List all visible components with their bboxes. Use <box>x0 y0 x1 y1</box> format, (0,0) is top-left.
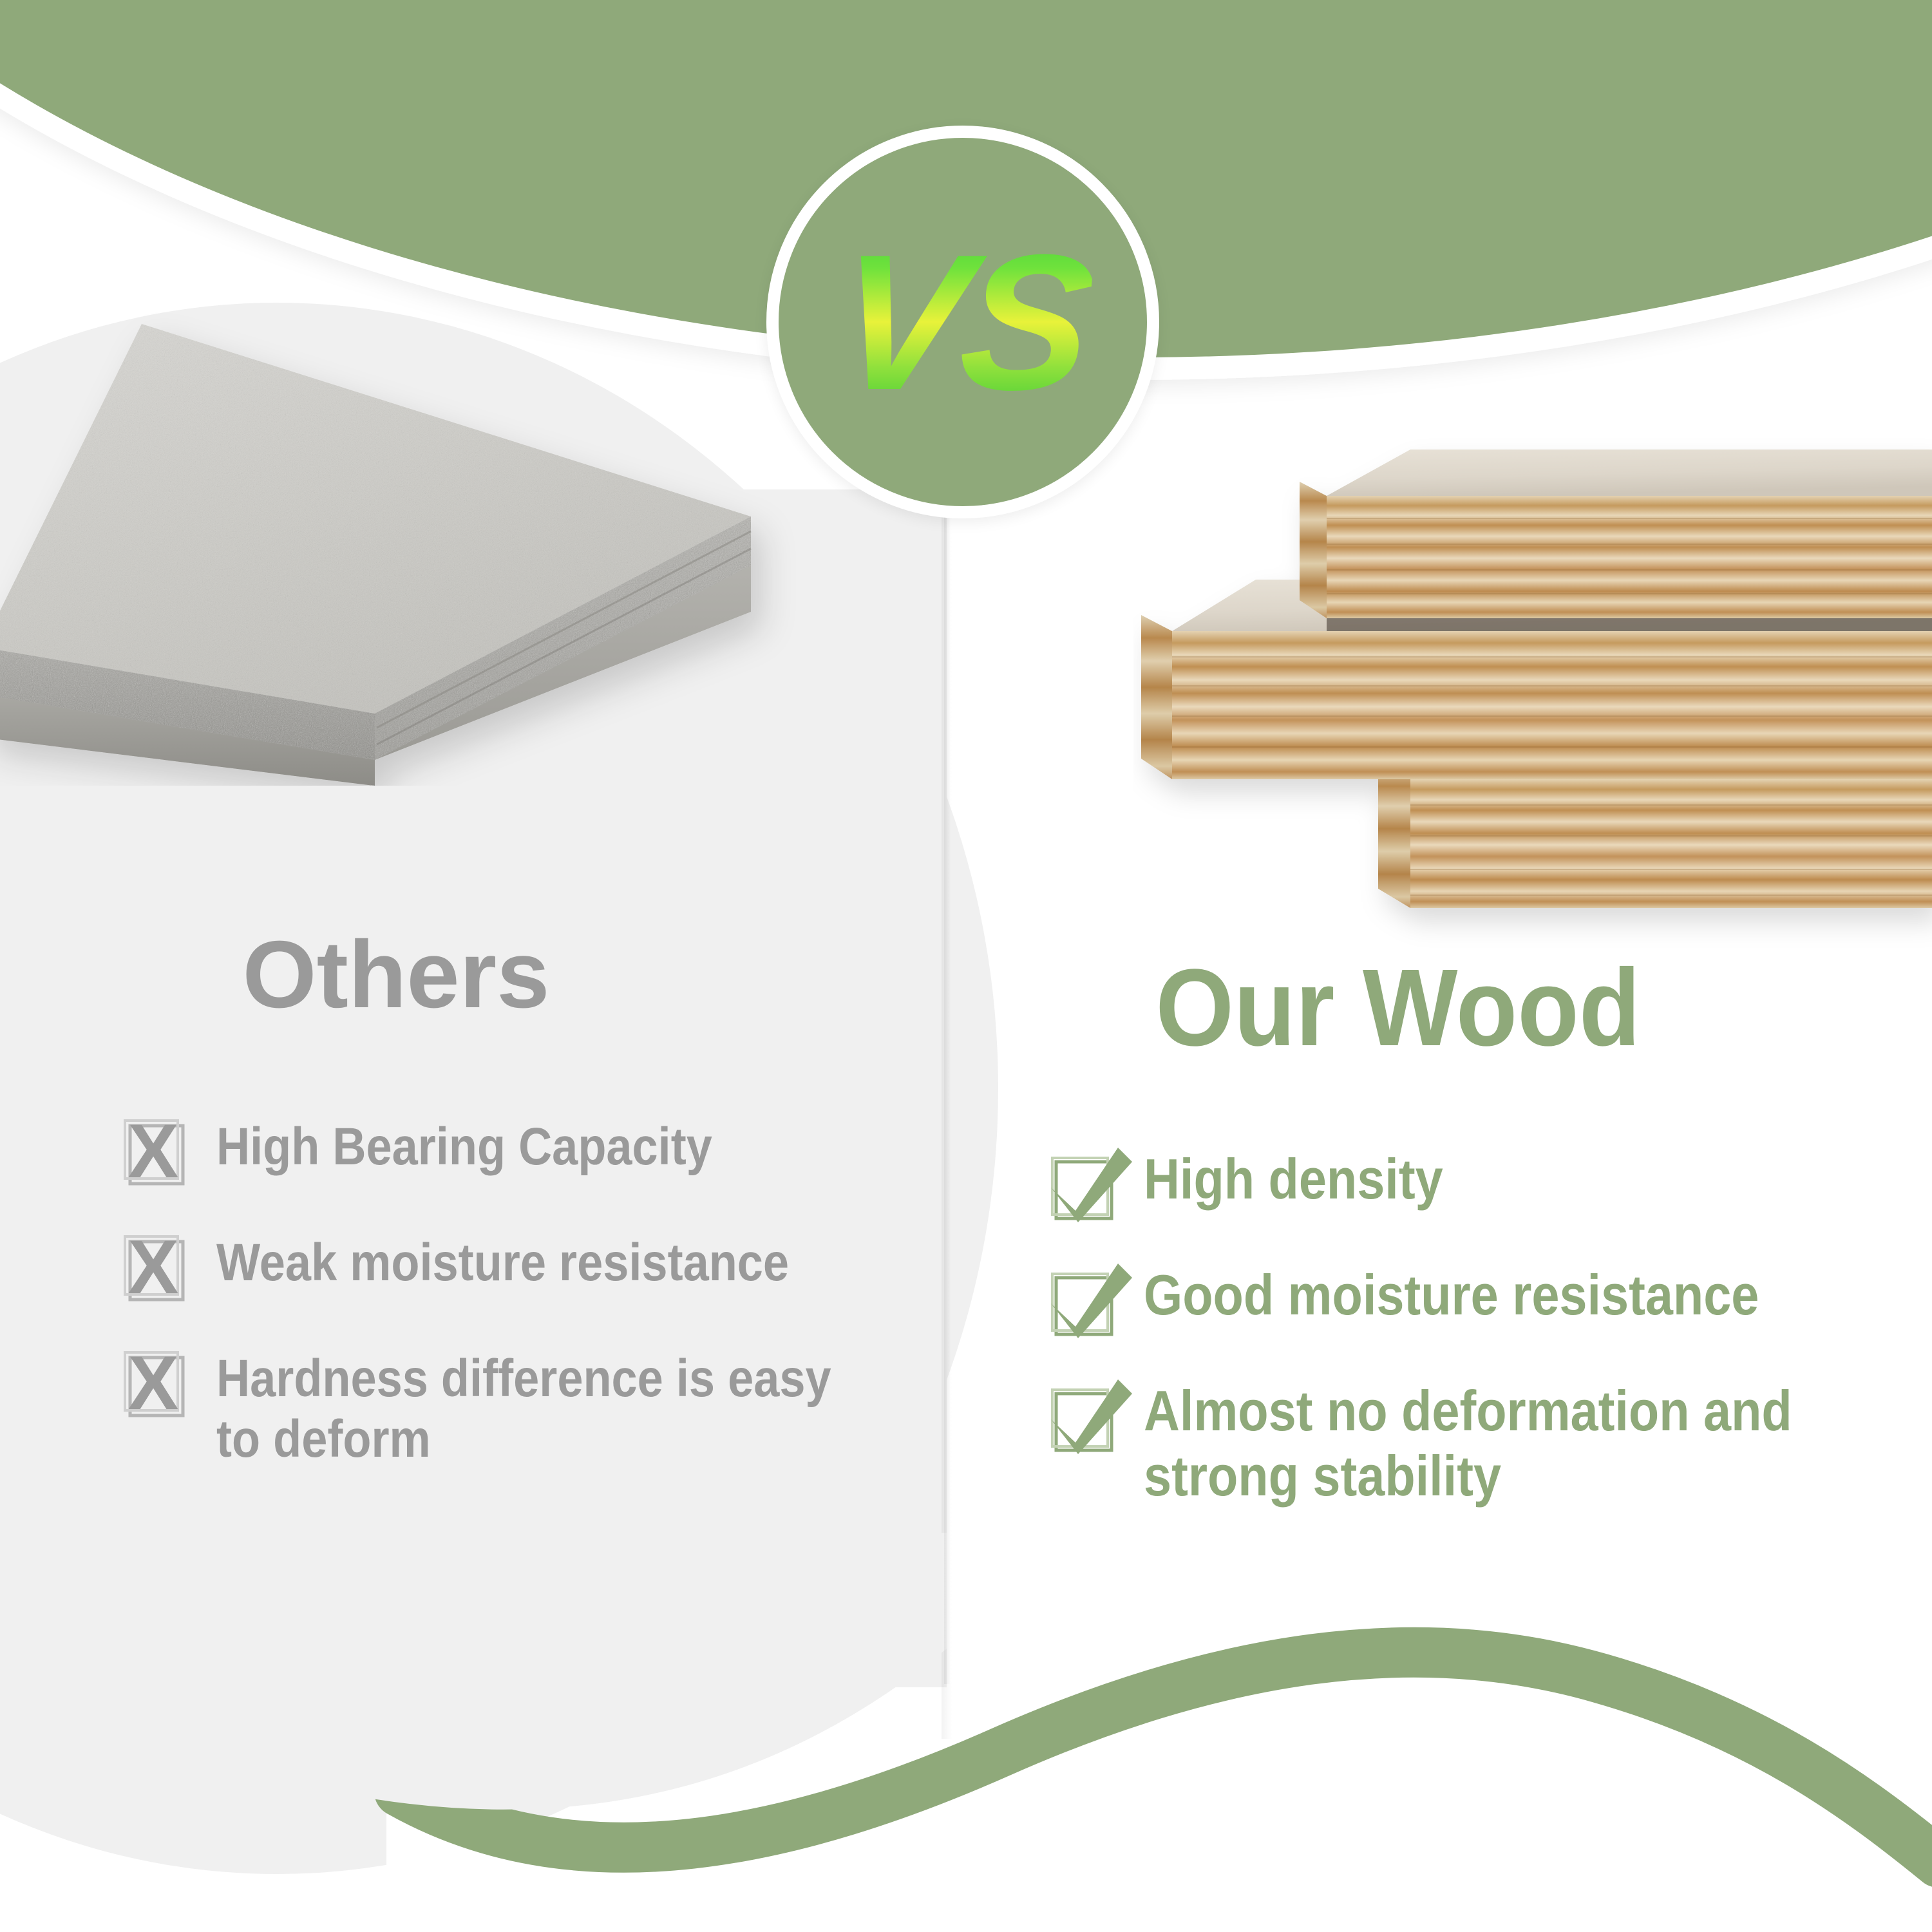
our-wood-feature-list: High density Good moisture resistance <box>966 1153 1932 1508</box>
list-item: Almost no deformation and strong stabili… <box>1056 1385 1932 1508</box>
others-feature-list: X High Bearing Capacity X Weak moisture … <box>0 1121 947 1470</box>
svg-text:X: X <box>128 1109 179 1194</box>
cross-icon: X <box>129 1240 183 1302</box>
plywood-stack-image <box>1133 419 1932 953</box>
column-our-wood: Our Wood High density <box>966 953 1932 1508</box>
cement-board-image <box>0 309 818 786</box>
list-item-label: High density <box>1144 1146 1443 1211</box>
svg-text:X: X <box>128 1225 179 1310</box>
list-item: High density <box>1056 1153 1932 1218</box>
vs-label: VS <box>828 225 1098 419</box>
list-item-label: Almost no deformation and strong stabili… <box>1144 1378 1837 1508</box>
svg-text:X: X <box>128 1341 179 1426</box>
list-item: Good moisture resistance <box>1056 1269 1932 1334</box>
column-others: Others X High Bearing Capacity <box>0 927 947 1470</box>
list-item: X Hardness difference is easy to deform <box>129 1352 947 1470</box>
list-item-label: Hardness difference is easy to deform <box>216 1349 859 1470</box>
check-icon <box>1056 1273 1110 1334</box>
cross-icon: X <box>129 1356 183 1418</box>
cross-icon: X <box>129 1124 183 1186</box>
infographic-canvas: VS Others X High Bearing Capacity <box>0 0 1932 1932</box>
list-item-label: Good moisture resistance <box>1144 1262 1759 1327</box>
list-item-label: Weak moisture resistance <box>216 1233 789 1293</box>
check-icon <box>1056 1157 1110 1218</box>
our-wood-title: Our Wood <box>966 953 1855 1063</box>
list-item: X High Bearing Capacity <box>129 1121 947 1186</box>
list-item: X Weak moisture resistance <box>129 1236 947 1302</box>
others-title: Others <box>0 927 947 1023</box>
check-icon <box>1056 1388 1110 1450</box>
list-item-label: High Bearing Capacity <box>216 1117 712 1177</box>
vs-badge: VS <box>766 126 1159 518</box>
